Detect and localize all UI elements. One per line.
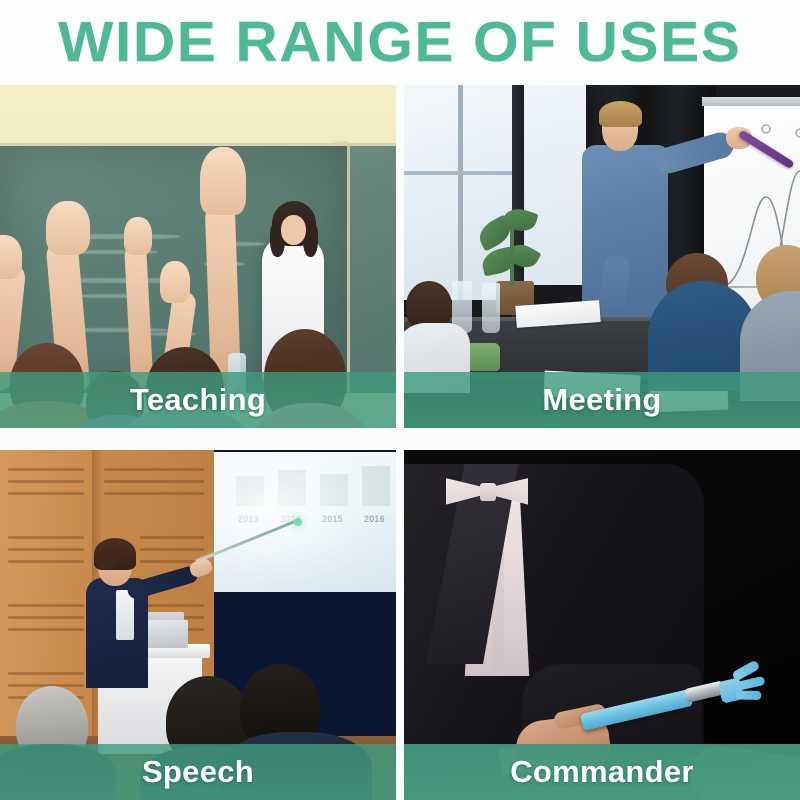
caption-label-commander: Commander xyxy=(510,754,694,790)
teacher-face xyxy=(281,215,306,245)
use-case-panel-meeting[interactable]: Meeting xyxy=(404,85,800,428)
use-case-panel-commander[interactable]: Commander xyxy=(404,450,800,800)
speaker-hair-bun xyxy=(96,550,116,570)
projector-glow xyxy=(214,452,396,592)
baton-tip-prong-3 xyxy=(735,690,761,699)
caption-label-teaching: Teaching xyxy=(130,382,266,418)
window-mullion-horizontal xyxy=(404,171,520,175)
raised-hand-3 xyxy=(124,217,152,255)
caption-bar-teaching: Teaching xyxy=(0,372,396,428)
window-mullion-vertical xyxy=(458,85,463,300)
raised-hand-4 xyxy=(200,147,246,215)
caption-label-speech: Speech xyxy=(142,754,254,790)
chalkboard-right-section xyxy=(346,143,396,393)
use-case-panel-speech[interactable]: 2013 2014 2015 2016 xyxy=(0,450,396,800)
use-case-grid: Teaching xyxy=(0,85,800,800)
flipchart-top-rail xyxy=(702,97,800,106)
pointer-tip-highlight xyxy=(294,518,302,526)
product-feature-image: WIDE RANGE OF USES xyxy=(0,0,800,800)
use-case-panel-teaching[interactable]: Teaching xyxy=(0,85,396,428)
caption-bar-meeting: Meeting xyxy=(404,372,800,428)
water-glass-2 xyxy=(482,283,500,333)
page-title: WIDE RANGE OF USES xyxy=(58,14,741,71)
plant-stem xyxy=(510,225,514,287)
presenter-hair xyxy=(599,101,642,127)
caption-bar-commander: Commander xyxy=(404,744,800,800)
caption-label-meeting: Meeting xyxy=(542,382,661,418)
raised-hand-5 xyxy=(160,261,190,303)
title-banner: WIDE RANGE OF USES xyxy=(0,0,800,85)
raised-hand-2 xyxy=(46,201,90,255)
caption-bar-speech: Speech xyxy=(0,744,396,800)
small-succulent xyxy=(466,343,500,371)
bow-tie-knot xyxy=(480,483,496,501)
